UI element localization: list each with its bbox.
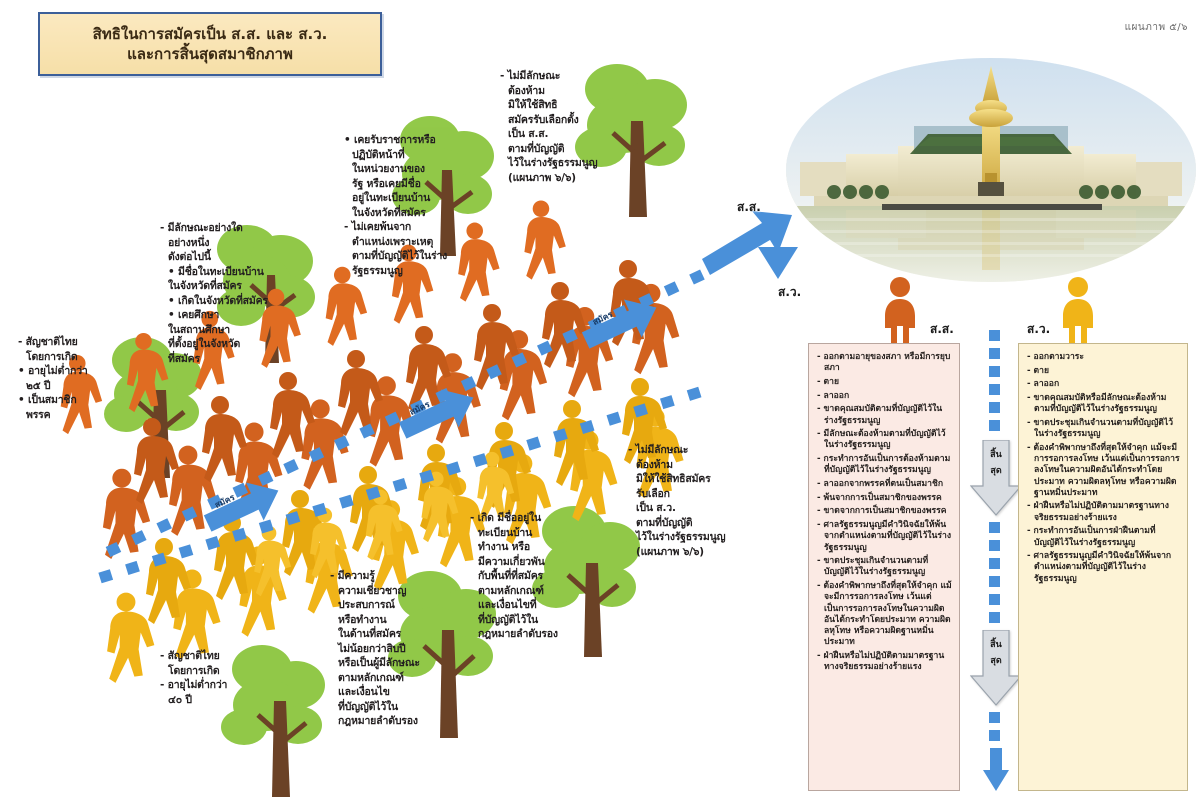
- qualification-line: ในด้านที่สมัคร: [330, 628, 440, 642]
- qualification-line: และเงื่อนไขที่: [470, 599, 580, 613]
- qualification-line: ที่บัญญัติไว้ใน: [470, 614, 580, 628]
- termination-item: - มีลักษณะต้องห้ามตามที่บัญญัติไว้ในร่าง…: [817, 429, 952, 451]
- qualification-line: ในหน่วยงานของ: [344, 163, 464, 177]
- termination-arrow-label-1: สิ้น: [970, 450, 1022, 461]
- dash-square: [989, 576, 1000, 587]
- dash-square: [989, 402, 1000, 413]
- apply-arrow-1: สมัคร: [200, 478, 286, 540]
- mp-path-label: ส.ส.: [737, 198, 761, 217]
- qualification-line: ที่ตั้งอยู่ในจังหวัด: [160, 338, 280, 352]
- qualification-line: ดังต่อไปนี้: [160, 251, 280, 265]
- qualification-line: ๒๕ ปี: [18, 380, 104, 394]
- qualification-line: กฎหมายลำดับรอง: [470, 628, 580, 642]
- qualification-line: ในจังหวัดที่สมัคร: [344, 207, 464, 221]
- dash-square: [989, 612, 1000, 623]
- senator-qualification-block-4: - ไม่มีลักษณะต้องห้ามมิให้ใช้สิทธิสมัครร…: [628, 444, 740, 560]
- qualification-line: • เป็นสมาชิก: [18, 394, 104, 408]
- senator-path-label: ส.ว.: [778, 283, 801, 302]
- qualification-line: ไว้ในร่างรัฐธรรมนูญ: [500, 157, 618, 171]
- page-title-line2: และการสิ้นสุดสมาชิกภาพ: [127, 44, 293, 64]
- mp-termination-box: - ออกตามอายุของสภา หรือมีการยุบสภา- ตาย-…: [808, 343, 960, 791]
- termination-item: - ฝ่าฝืนหรือไม่ปฏิบัติตามมาตรฐานทางจริยธ…: [817, 651, 952, 673]
- dash-square: [989, 366, 1000, 377]
- qualification-line: มิให้ใช้สิทธิ: [500, 99, 618, 113]
- termination-arrow-label-1: สิ้น: [970, 640, 1022, 651]
- qualification-line: ตามที่บัญญัติ: [500, 143, 618, 157]
- qualification-line: ทะเบียนบ้าน: [470, 527, 580, 541]
- dash-square: [989, 330, 1000, 341]
- termination-arrow-label-2: สุด: [970, 466, 1022, 477]
- senator-qualification-block-1: - สัญชาติไทยโดยการเกิด- อายุไม่ต่ำกว่า๔๐…: [160, 650, 260, 708]
- qualification-line: ความเชี่ยวชาญ: [330, 585, 440, 599]
- termination-item: - ตาย: [1027, 366, 1180, 377]
- qualification-line: โดยการเกิด: [160, 665, 260, 679]
- qualification-line: หรือทำงาน: [330, 614, 440, 628]
- qualification-line: • เกิดในจังหวัดที่สมัคร: [160, 295, 280, 309]
- mp-person-icon: [882, 276, 918, 348]
- termination-item: - ฝ่าฝืนหรือไม่ปฏิบัติตามมาตรฐานทางจริยธ…: [1027, 501, 1180, 523]
- termination-item: - พ้นจากการเป็นสมาชิกของพรรค: [817, 493, 952, 504]
- termination-arrow-1: สิ้น สุด: [970, 440, 1022, 520]
- dash-square: [989, 348, 1000, 359]
- dash-square: [989, 420, 1000, 431]
- termination-item: - ต้องคำพิพากษาถึงที่สุดให้จำคุก แม้จะมี…: [817, 581, 952, 648]
- qualification-line: ตามที่บัญญัติไว้ในร่าง: [344, 250, 464, 264]
- qualification-line: ตำแหน่งเพราะเหตุ: [344, 236, 464, 250]
- apply-arrow-3: สมัคร: [578, 295, 664, 357]
- termination-item: - ขาดประชุมเกินจำนวนตามที่บัญญัติไว้ในร่…: [817, 556, 952, 578]
- mp-qualification-block-3: • เคยรับราชการหรือปฏิบัติหน้าที่ในหน่วยง…: [344, 134, 464, 279]
- termination-item: - ขาดคุณสมบัติหรือมีลักษณะต้องห้ามตามที่…: [1027, 393, 1180, 415]
- dash-square: [989, 384, 1000, 395]
- mp-role-label: ส.ส.: [930, 320, 954, 339]
- termination-item: - ขาดจากการเป็นสมาชิกของพรรค: [817, 506, 952, 517]
- dash-square: [989, 730, 1000, 741]
- qualification-line: กับพื้นที่ที่สมัคร: [470, 570, 580, 584]
- qualification-line: ที่สมัคร: [160, 353, 280, 367]
- qualification-line: ประสบการณ์: [330, 599, 440, 613]
- termination-item: - ลาออก: [817, 391, 952, 402]
- qualification-line: รับเลือก: [628, 488, 740, 502]
- qualification-line: รัฐ หรือเคยมีชื่อ: [344, 178, 464, 192]
- qualification-line: มีความเกี่ยวพัน: [470, 556, 580, 570]
- senator-termination-box: - ออกตามวาระ- ตาย- ลาออก- ขาดคุณสมบัติหร…: [1018, 343, 1188, 791]
- qualification-line: ต้องห้าม: [500, 85, 618, 99]
- termination-item: - ออกตามอายุของสภา หรือมีการยุบสภา: [817, 352, 952, 374]
- apply-arrow-2: สมัคร: [395, 385, 481, 447]
- termination-arrow-label-2: สุด: [970, 656, 1022, 667]
- qualification-line: หรือเป็นผู้มีลักษณะ: [330, 657, 440, 671]
- qualification-line: (แผนภาพ ๖/๖): [500, 172, 618, 186]
- mp-qualification-block-4: - ไม่มีลักษณะต้องห้ามมิให้ใช้สิทธิสมัครร…: [500, 70, 618, 186]
- termination-item: - ลาออก: [1027, 379, 1180, 390]
- qualification-line: ไม่น้อยกว่าสิบปี: [330, 643, 440, 657]
- qualification-line: - ไม่มีลักษณะ: [500, 70, 618, 84]
- qualification-line: • เคยศึกษา: [160, 309, 280, 323]
- termination-final-arrow: [982, 748, 1010, 792]
- qualification-line: (แผนภาพ ๖/๖): [628, 546, 740, 560]
- qualification-line: ในสถานศึกษา: [160, 324, 280, 338]
- qualification-line: • เคยรับราชการหรือ: [344, 134, 464, 148]
- termination-item: - กระทำการอันเป็นการฝ่าฝืนตามที่บัญญัติไ…: [1027, 526, 1180, 548]
- mp-qualification-block-1: - สัญชาติไทยโดยการเกิด• อายุไม่ต่ำกว่า๒๕…: [18, 336, 104, 423]
- senator-role-label: ส.ว.: [1027, 320, 1050, 339]
- page-title-line1: สิทธิในการสมัครเป็น ส.ส. และ ส.ว.: [93, 24, 328, 44]
- qualification-line: ๔๐ ปี: [160, 694, 260, 708]
- page-title: สิทธิในการสมัครเป็น ส.ส. และ ส.ว. และการ…: [38, 12, 382, 76]
- qualification-line: มิให้ใช้สิทธิสมัคร: [628, 473, 740, 487]
- dash-square: [989, 558, 1000, 569]
- dash-square: [989, 712, 1000, 723]
- qualification-line: และเงื่อนไข: [330, 686, 440, 700]
- termination-item: - ลาออกจากพรรคที่ตนเป็นสมาชิก: [817, 479, 952, 490]
- plate-number: แผนภาพ ๕/๖: [1125, 20, 1188, 35]
- qualification-line: อย่างหนึ่ง: [160, 237, 280, 251]
- qualification-line: - ไม่มีลักษณะ: [628, 444, 740, 458]
- qualification-line: ต้องห้าม: [628, 459, 740, 473]
- dash-square: [989, 594, 1000, 605]
- dash-square: [989, 522, 1000, 533]
- qualification-line: - ไม่เคยพ้นจาก: [344, 221, 464, 235]
- termination-item: - ต้องคำพิพากษาถึงที่สุดให้จำคุก แม้จะมี…: [1027, 443, 1180, 499]
- termination-item: - ศาลรัฐธรรมนูญมีคำวินิจฉัยให้พ้นจากตำแห…: [1027, 551, 1180, 585]
- qualification-line: โดยการเกิด: [18, 351, 104, 365]
- termination-item: - ตาย: [817, 377, 952, 388]
- termination-arrow-2: สิ้น สุด: [970, 630, 1022, 710]
- qualification-line: ตามหลักเกณฑ์: [470, 585, 580, 599]
- qualification-line: - สัญชาติไทย: [160, 650, 260, 664]
- qualification-line: กฎหมายลำดับรอง: [330, 715, 440, 729]
- qualification-line: รัฐธรรมนูญ: [344, 265, 464, 279]
- termination-item: - ออกตามวาระ: [1027, 352, 1180, 363]
- dash-square: [989, 540, 1000, 551]
- qualification-line: ทำงาน หรือ: [470, 541, 580, 555]
- senator-qualification-block-3: - เกิด มีชื่ออยู่ในทะเบียนบ้านทำงาน หรือ…: [470, 512, 580, 643]
- qualification-line: อยู่ในทะเบียนบ้าน: [344, 192, 464, 206]
- qualification-line: ปฏิบัติหน้าที่: [344, 149, 464, 163]
- termination-item: - ขาดคุณสมบัติตามที่บัญญัติไว้ในร่างรัฐธ…: [817, 404, 952, 426]
- qualification-line: พรรค: [18, 409, 104, 423]
- termination-arrow-column: สิ้น สุด สิ้น สุด: [984, 330, 1008, 792]
- termination-item: - ขาดประชุมเกินจำนวนตามที่บัญญัติไว้ในร่…: [1027, 418, 1180, 440]
- termination-item: - ศาลรัฐธรรมนูญมีคำวินิจฉัยให้พ้นจากตำแห…: [817, 520, 952, 554]
- senator-qualification-block-2: - มีความรู้ความเชี่ยวชาญประสบการณ์หรือทำ…: [330, 570, 440, 730]
- mp-qualification-block-2: - มีลักษณะอย่างใดอย่างหนึ่งดังต่อไปนี้• …: [160, 222, 280, 367]
- qualification-line: เป็น ส.ส.: [500, 128, 618, 142]
- termination-item: - กระทำการอันเป็นการต้องห้ามตามที่บัญญัต…: [817, 454, 952, 476]
- qualification-line: - เกิด มีชื่ออยู่ใน: [470, 512, 580, 526]
- qualification-line: - สัญชาติไทย: [18, 336, 104, 350]
- qualification-line: สมัครรับเลือกตั้ง: [500, 114, 618, 128]
- qualification-line: - อายุไม่ต่ำกว่า: [160, 679, 260, 693]
- qualification-line: • อายุไม่ต่ำกว่า: [18, 365, 104, 379]
- qualification-line: เป็น ส.ว.: [628, 502, 740, 516]
- qualification-line: ในจังหวัดที่สมัคร: [160, 280, 280, 294]
- senator-person-icon: [1060, 276, 1096, 348]
- qualification-line: ที่บัญญัติไว้ใน: [330, 701, 440, 715]
- parliament-building-photo: [786, 58, 1196, 282]
- senator-path-arrowhead: [756, 243, 800, 283]
- qualification-line: ไว้ในร่างรัฐธรรมนูญ: [628, 531, 740, 545]
- qualification-line: • มีชื่อในทะเบียนบ้าน: [160, 266, 280, 280]
- qualification-line: - มีลักษณะอย่างใด: [160, 222, 280, 236]
- qualification-line: - มีความรู้: [330, 570, 440, 584]
- qualification-line: ตามที่บัญญัติ: [628, 517, 740, 531]
- qualification-line: ตามหลักเกณฑ์: [330, 672, 440, 686]
